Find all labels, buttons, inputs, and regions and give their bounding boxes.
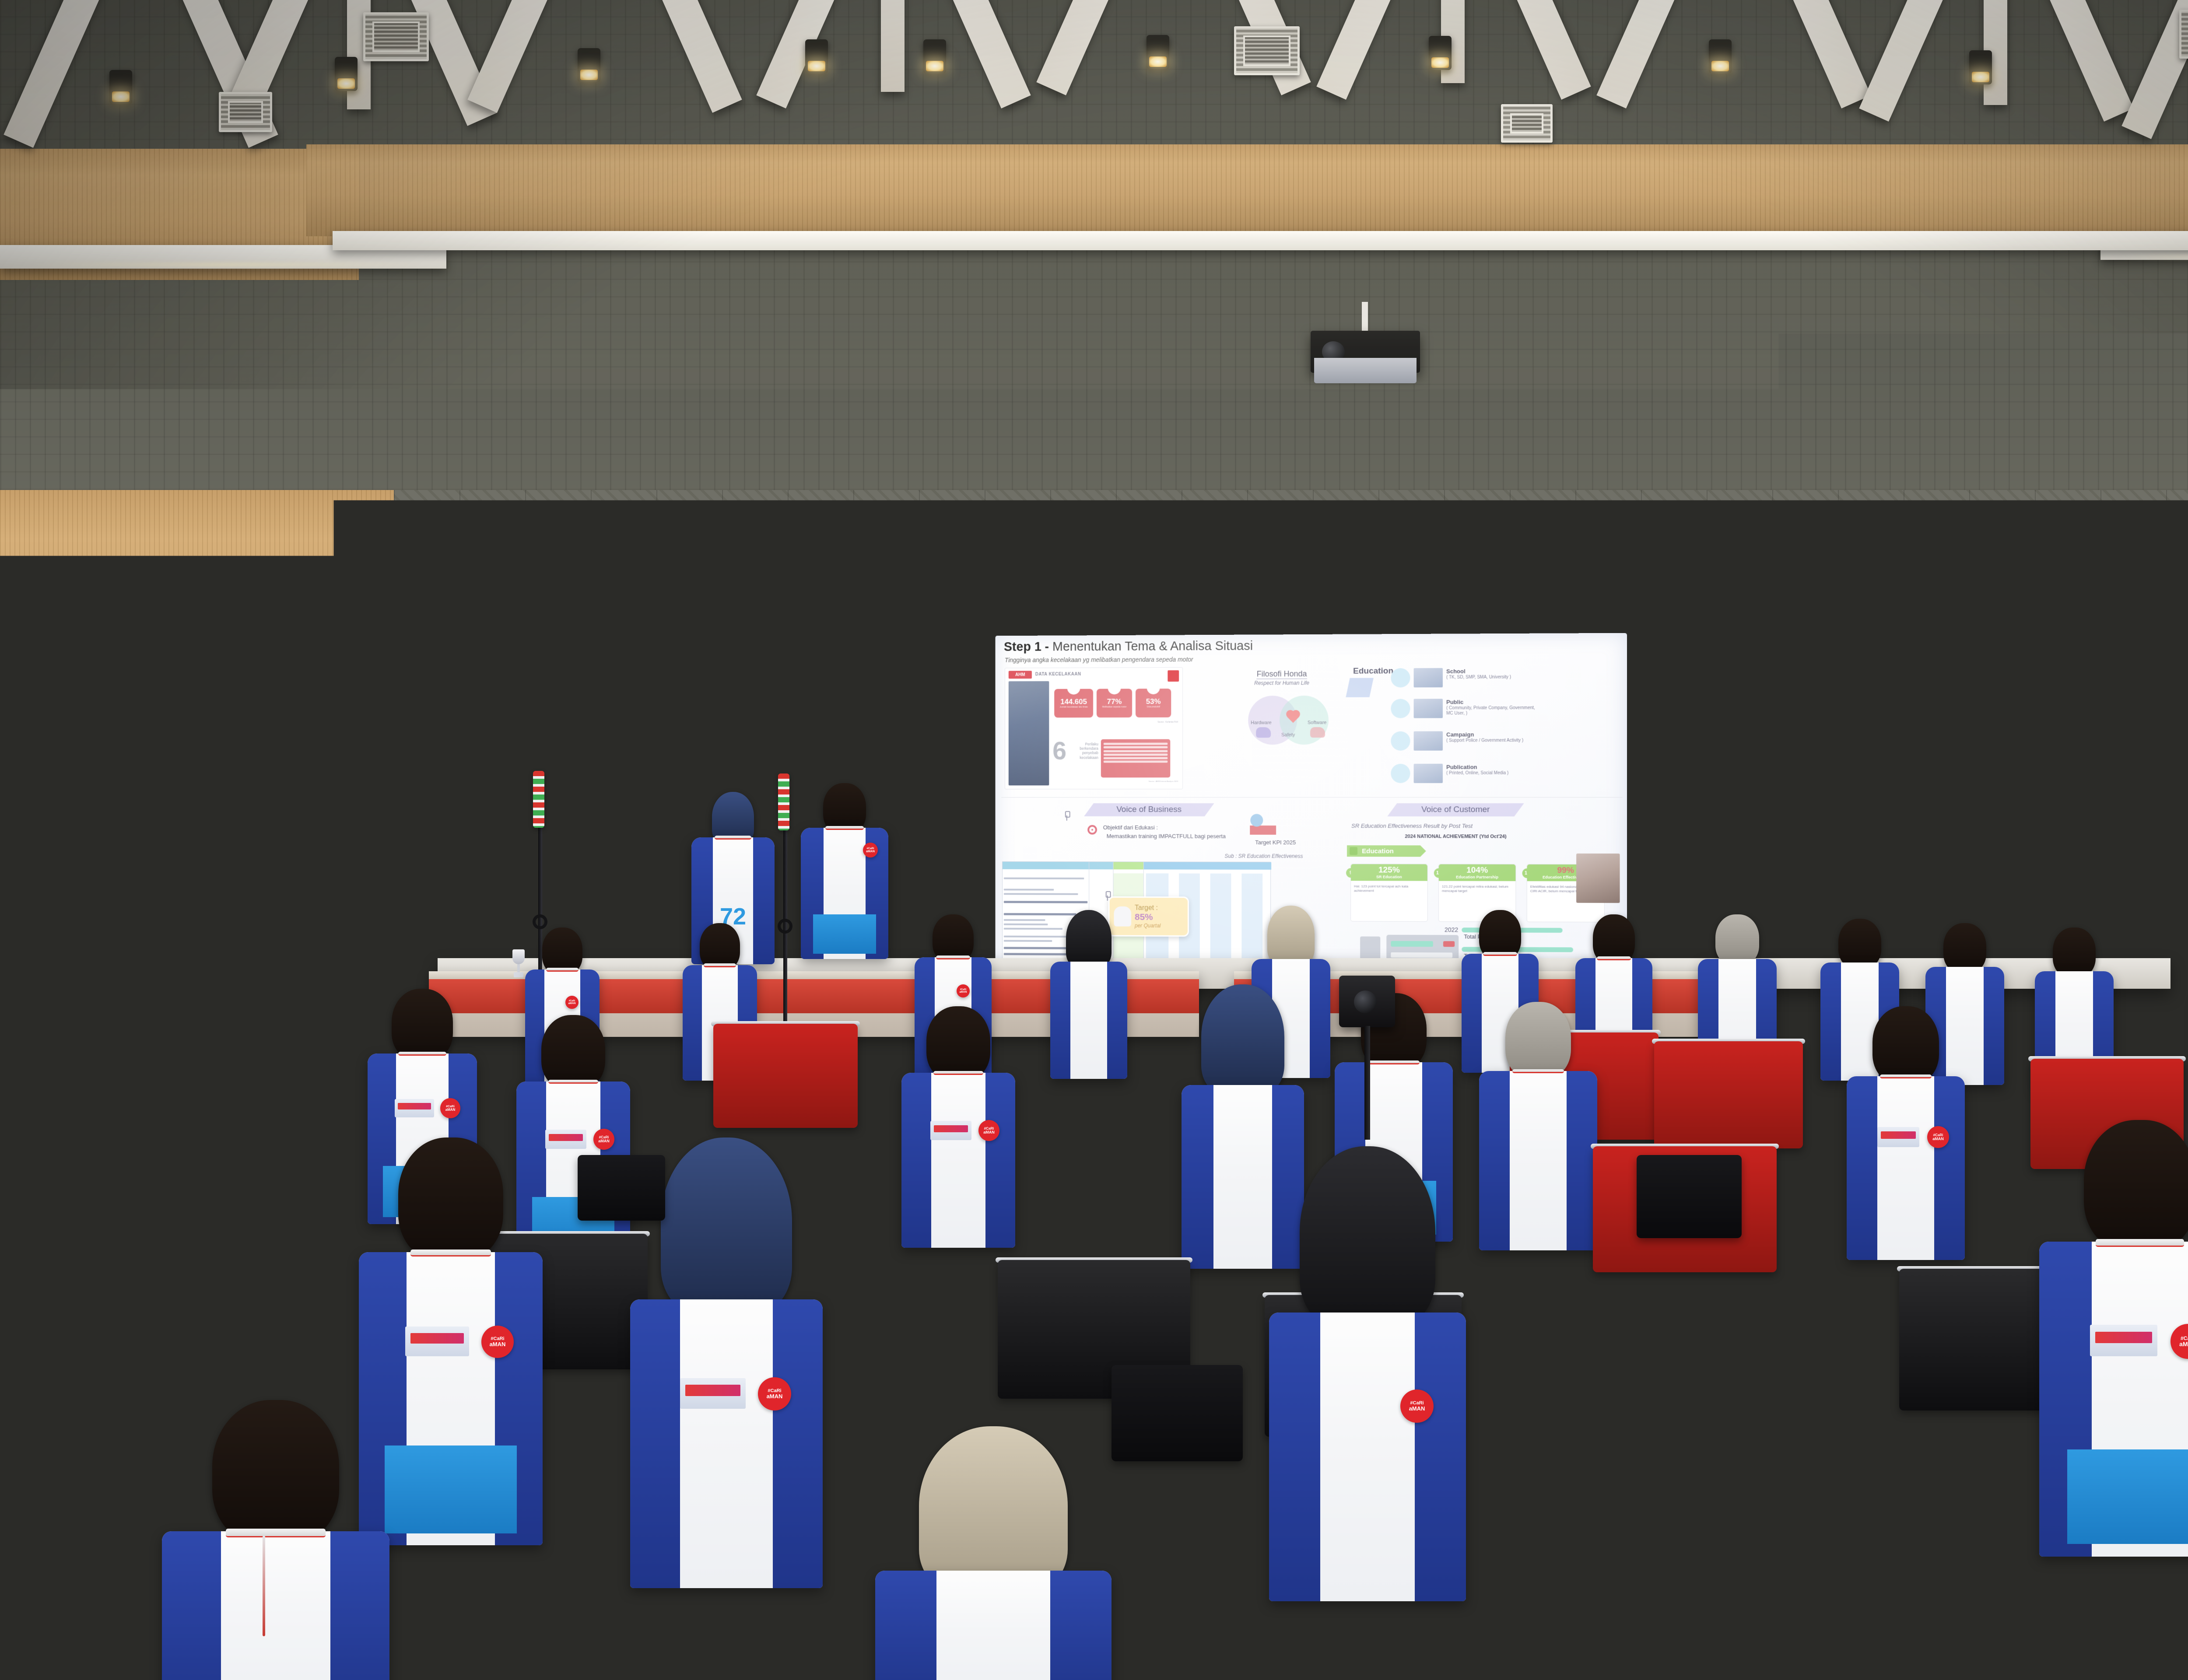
attendee-torso: #CaRiaMAN — [2039, 1242, 2188, 1557]
honda-mini-logo — [1168, 670, 1179, 682]
jacket-shoulder — [1934, 1076, 1965, 1260]
trophy-base — [514, 972, 523, 977]
attendee-torso: #CaRiaMAN — [630, 1299, 823, 1588]
audience-member — [1050, 910, 1127, 1076]
attendee-head — [2084, 1120, 2188, 1251]
banner-cari-aman-badge: #CaRi aMAN — [683, 751, 700, 768]
attendee-head — [1872, 1006, 1939, 1084]
jacket-collar — [546, 968, 579, 972]
mic-clip-icon — [533, 914, 547, 929]
ceiling-spotlight — [923, 39, 946, 73]
ceiling-projector — [1311, 331, 1420, 373]
ceiling-beam-group-7 — [1619, 0, 1847, 118]
right-banner-artwork: HONDA #CaRi_aMAN saat naik motor — [1757, 627, 2158, 943]
table-row — [1004, 940, 1052, 941]
audience-member: #CaRiaMAN — [901, 1006, 1015, 1251]
chair-back — [1654, 1041, 1803, 1148]
sponsor-logo-row: KYT NUSANTARA FDR — [490, 906, 636, 927]
stat-card: 53% Usia produktif — [1136, 689, 1171, 717]
venn-label-hardware: Hardware — [1251, 720, 1272, 725]
kpi-name: Education Partnership — [1456, 875, 1498, 879]
podium-top — [263, 862, 349, 869]
jacket-collar — [825, 826, 864, 830]
traffic-pole-light — [778, 773, 789, 830]
attendee-head — [1267, 906, 1315, 965]
safety-riding-wordmark — [549, 1134, 583, 1141]
kpi-notes: Hal. 123 point tot tercapai ach kata ach… — [1354, 884, 1424, 893]
jacket-shoulder — [1847, 1076, 1877, 1260]
stat-caption: Usia produktif — [1138, 706, 1168, 709]
kpi-notes: 121.22 point tercapai mitra edukasi; bel… — [1442, 885, 1512, 893]
ac-vent-icon — [2179, 10, 2188, 59]
safety-riding-wordmark — [132, 1288, 183, 1299]
trophy-icon — [512, 949, 525, 978]
jacket-collar — [548, 1080, 598, 1084]
bar-year: 2022 — [1445, 926, 1458, 933]
attendee-head — [104, 761, 181, 854]
behaviour-count: 6 — [1052, 740, 1066, 762]
accident-data-panel: AHM DATA KECELAKAAN 144.605 Jumlah kecel… — [1005, 667, 1183, 789]
sponsor-label: Disponsori oleh: — [490, 880, 559, 892]
safety-riding-logo — [2090, 1325, 2157, 1356]
education-chip-label: Education — [1362, 847, 1394, 855]
jacket-blue-stripe — [269, 1138, 344, 1188]
education-item-campaign: Campaign ( Support Police / Government A… — [1391, 731, 1536, 751]
education-thumb — [1414, 731, 1443, 750]
jacket-shoulder — [1182, 1085, 1213, 1269]
audience-member-foreground — [875, 1426, 1112, 1680]
target-title: Target : — [1135, 904, 1161, 912]
cari-aman-badge: #CaRiaMAN — [1400, 1389, 1434, 1423]
jacket-shoulder — [901, 1073, 931, 1248]
venn-label-safety: Safety — [1281, 732, 1295, 738]
kpi-head: 125% SR Education — [1351, 864, 1427, 881]
table-header-green — [1113, 862, 1143, 869]
cari-aman-badge: #CaRiaMAN — [481, 1326, 514, 1358]
attendee-torso — [1479, 1071, 1597, 1250]
honda-wall-wordmark: HONDA — [463, 772, 529, 790]
safety-riding-wordmark — [410, 1333, 464, 1344]
attendee-torso — [875, 1571, 1112, 1680]
jacket-collar — [936, 955, 970, 959]
cari-aman-badge: #CaRiaMAN — [440, 1098, 460, 1118]
kpi-percent: 104% — [1466, 866, 1488, 875]
kpi-card-sr-education: 9 125% SR Education Hal. 123 point tot t… — [1350, 864, 1428, 922]
attendee-torso — [162, 1531, 389, 1680]
education-item-detail: ( Printed, Online, Social Media ) — [1446, 771, 1508, 776]
badge-text: aMAN — [568, 1002, 575, 1005]
safety-riding-logo — [545, 1130, 586, 1149]
venn-scooter-left-icon — [1256, 727, 1271, 738]
sponsor-logo-kyt: KYT — [490, 907, 526, 927]
camera-lens-icon — [1354, 990, 1377, 1013]
voice-of-customer-header: Voice of Customer — [1387, 803, 1524, 816]
banner-rider2-helmet — [2011, 731, 2051, 768]
stat-value: 77% — [1107, 697, 1122, 706]
event-hall-photo: HONDA AHM PT Astra Honda Motor #CaRi aMA… — [0, 0, 2188, 1680]
helmet — [1479, 927, 1527, 965]
left-banner-artwork: HONDA AHM PT Astra Honda Motor #CaRi aMA… — [452, 627, 854, 943]
behaviour-item — [1104, 743, 1168, 745]
kpi-percent: 99% — [1557, 866, 1574, 875]
attendee-head — [2053, 927, 2096, 977]
jacket-collar — [410, 1249, 491, 1256]
sponsor-logo-fdr: FDR — [586, 906, 637, 927]
badge-text: aMAN — [598, 1139, 610, 1143]
attendee-head — [1300, 1146, 1435, 1326]
attendee-head — [212, 1400, 339, 1544]
venn-scooter-right-icon — [1310, 727, 1325, 738]
attendee-head — [541, 1015, 605, 1089]
cari-aman-badge: #CaRiaMAN — [978, 1120, 999, 1141]
badge-text: aMAN — [165, 904, 178, 909]
safety-riding-logo — [930, 1121, 971, 1140]
presenter-male: #CaRi aMAN — [801, 783, 888, 967]
ceiling-light-strip-left — [26, 262, 420, 267]
cari-aman-hashtag-badge: #CaRi_aMAN saat naik motor — [2060, 641, 2139, 668]
quiz-progress-bar — [1391, 941, 1433, 947]
attendee-head — [1943, 923, 1986, 973]
slide-title-text: Menentukan Tema & Analisa Situasi — [1052, 639, 1253, 654]
education-heading: Education — [1353, 666, 1393, 676]
attendee-torso: #CaRiaMAN — [1269, 1312, 1466, 1601]
jacket-blue-stripe — [2067, 1449, 2188, 1544]
objective-text: Memastikan training IMPACTFULL bagi pese… — [1107, 833, 1226, 840]
stat-caption: Jumlah kecelakaan lalu lintas — [1057, 707, 1090, 709]
kpi-name: SR Education — [1376, 875, 1402, 879]
venn-label-software: Software — [1308, 720, 1326, 725]
safety-indonesia-logo — [496, 648, 530, 687]
jacket-blue-stripe — [813, 914, 876, 954]
jacket-collar — [1512, 1069, 1564, 1073]
education-item-name: School — [1446, 668, 1511, 675]
badge-text: aMAN — [767, 1393, 783, 1399]
badge-text: aMAN — [1932, 1137, 1944, 1141]
voc-subtitle: SR Education Effectiveness Result by Pos… — [1351, 822, 1473, 829]
school-icon — [1391, 668, 1410, 687]
jacket-collar — [2096, 1239, 2184, 1247]
cari-aman-badge: #CaRiaMAN — [758, 1377, 791, 1410]
ceiling-beam-group-6 — [1339, 0, 1567, 109]
people-icon — [1147, 681, 1160, 694]
jacket-collar — [704, 963, 736, 967]
jacket-collar — [398, 1052, 446, 1056]
attendee-head — [1201, 984, 1284, 1094]
monitor-icon — [1391, 764, 1410, 783]
ceiling-spotlight — [1709, 39, 1732, 73]
lanyard — [263, 1536, 265, 1636]
attendee-head-cap — [1715, 914, 1759, 965]
badge-text: aMAN — [207, 1296, 224, 1302]
backpack — [1637, 1155, 1742, 1238]
jacket-shoulder — [683, 965, 702, 1081]
building-icon — [1391, 699, 1410, 718]
honda-logo: HONDA — [1788, 637, 1855, 730]
jacket-collar — [226, 1529, 326, 1537]
jacket-collar — [933, 1071, 983, 1075]
safety-riding-wordmark — [1881, 1131, 1916, 1139]
badge-text: aMAN — [2179, 1341, 2188, 1347]
jacket-shoulder — [1269, 1312, 1320, 1601]
table-row — [1004, 919, 1045, 921]
safety-riding-wordmark — [934, 1125, 968, 1132]
stat-card: 144.605 Jumlah kecelakaan lalu lintas — [1054, 689, 1093, 717]
attendee-head — [926, 1006, 990, 1081]
ac-vent-icon — [1501, 104, 1553, 143]
jacket-shoulder — [1984, 967, 2004, 1085]
ceiling-beam — [881, 0, 905, 92]
table-row — [1004, 878, 1084, 879]
slide-subtitle: Tingginya angka kecelakaan yg melibatkan… — [1005, 656, 1193, 664]
ceiling-light-strip-right — [2118, 255, 2188, 259]
kpi-head: 104% Education Partnership — [1439, 864, 1515, 881]
education-person-icon — [1346, 678, 1374, 697]
jacket-shoulder — [162, 1531, 221, 1680]
jacket-shoulder — [330, 1531, 389, 1680]
ahm-logo: AHM PT Astra Honda Motor — [713, 638, 779, 730]
attendee-torso: #CaRiaMAN — [901, 1073, 1015, 1248]
ceiling-beam-group-3 — [490, 0, 718, 122]
safety-riding-logo — [1877, 1127, 1919, 1147]
stat-caption: Melibatkan sepeda motor — [1099, 706, 1129, 709]
attendee-head — [1838, 919, 1881, 969]
jacket-shoulder — [1050, 962, 1070, 1079]
heart-icon — [1285, 710, 1301, 725]
jacket-shoulder — [1462, 954, 1482, 1073]
accident-source-note: Source : Korlantas Polri — [1157, 721, 1178, 723]
ahm-logo-sub: PT Astra Honda Motor — [723, 692, 769, 697]
safety-riding-wordmark — [282, 1075, 314, 1081]
slide-title-line: Step 1 - Menentukan Tema & Analisa Situa… — [1004, 639, 1253, 654]
badge-text: aMAN — [490, 1341, 506, 1347]
jacket-collar — [715, 836, 751, 840]
quiz-accent — [1443, 941, 1455, 947]
ceiling-spotlight — [805, 39, 828, 73]
philosophy-subtitle: Respect for Human Life — [1236, 680, 1328, 686]
audience-member — [1479, 1002, 1597, 1256]
pin-icon — [1104, 891, 1111, 901]
ac-vent-icon — [1234, 26, 1300, 75]
megaphone-icon — [1350, 847, 1357, 855]
safety-riding-logo — [127, 1282, 188, 1311]
backpack — [1112, 1365, 1243, 1461]
ceiling-beam-group-2 — [245, 0, 473, 136]
audience-member: #CaRiaMAN — [254, 967, 359, 1194]
ceiling-beam-group-1 — [26, 0, 254, 157]
jacket-shoulder — [1050, 1571, 1112, 1680]
kpi-caption: Target KPI 2025 — [1255, 839, 1296, 846]
kpi-chart-icon — [1250, 813, 1276, 835]
kpi-percent: 125% — [1378, 866, 1400, 874]
behaviour-item — [1104, 757, 1168, 759]
education-item-name: Publication — [1446, 764, 1508, 770]
ceiling-beam-group-8 — [1882, 0, 2109, 131]
audience-member-hijab-foreground: #CaRiaMAN — [1269, 1146, 1466, 1588]
jacket-shoulder — [1820, 962, 1841, 1081]
education-thumb — [1414, 668, 1443, 687]
ceiling-spotlight — [335, 57, 358, 91]
stat-card: 77% Melibatkan sepeda motor — [1097, 689, 1132, 717]
wall-wood-left — [0, 490, 394, 735]
education-item-name: Campaign — [1446, 731, 1523, 738]
attendee-head — [919, 1426, 1068, 1592]
motorcycle-icon — [1108, 681, 1121, 694]
accident-panel-header: DATA KECELAKAAN — [1035, 672, 1081, 677]
badge-text: aMAN — [959, 991, 967, 994]
safety-riding-wordmark — [398, 1103, 431, 1109]
voc-achievement-label: 2024 NATIONAL ACHIEVEMENT (Ytd Oct'24) — [1405, 834, 1506, 839]
safety-riding-logo — [405, 1326, 469, 1356]
hashtag-sub: saat naik motor — [2086, 659, 2113, 664]
badge-text: aMAN — [866, 850, 875, 853]
header-tick — [1372, 803, 1384, 816]
education-item-detail: ( Support Police / Government Activity ) — [1446, 738, 1523, 743]
badge-text: aMAN — [983, 1130, 995, 1134]
behaviour-item — [1104, 746, 1168, 749]
slide-divider — [1001, 797, 1623, 798]
jacket-shoulder — [630, 1299, 680, 1588]
ac-vent-icon — [363, 12, 429, 61]
jacket-shoulder — [773, 1299, 823, 1588]
cari-aman-badge: #CaRiaMAN — [565, 996, 579, 1009]
ahm-mini-logo: AHM — [1009, 671, 1032, 679]
header-tick — [1069, 803, 1081, 816]
mic-clip-icon — [778, 919, 792, 934]
philosophy-venn: Hardware Software Safety — [1248, 696, 1331, 748]
education-thumb — [1414, 764, 1443, 783]
philosophy-block: Filosofi Honda Respect for Human Life — [1236, 669, 1328, 686]
stat-value: 144.605 — [1060, 698, 1087, 707]
education-activity-photo — [1576, 854, 1620, 903]
attendee-torso: #CaRiaMAN — [1847, 1076, 1965, 1260]
sub-caption: Sub : SR Education Effectiveness — [1225, 853, 1303, 859]
jacket-collar — [1880, 1074, 1932, 1078]
attendee-torso: #CaRiaMAN — [254, 1028, 359, 1194]
target-period: per Quartal — [1135, 923, 1161, 929]
honda-wordmark: HONDA — [1803, 701, 1839, 711]
attendee-head — [277, 967, 335, 1035]
behaviour-source-note: Source : AHM Internal Analysis 2024 — [1149, 780, 1178, 782]
table-header-blue — [1143, 862, 1271, 869]
jacket-collar — [283, 1026, 330, 1030]
behaviour-item — [1104, 750, 1168, 752]
jacket-collar — [1597, 956, 1630, 960]
education-thumb — [1414, 699, 1443, 718]
education-item-detail: ( TK, SD, SMP, SMA, University ) — [1446, 675, 1511, 680]
table-row — [1004, 889, 1054, 890]
voice-of-customer-label: Voice of Customer — [1421, 805, 1490, 815]
attendee-head — [398, 1137, 503, 1261]
jacket-shoulder — [875, 1571, 936, 1680]
banner-man-cap — [1917, 692, 1971, 714]
cari-aman-badge: #CaRiaMAN — [2170, 1324, 2188, 1359]
attendee-head — [661, 1137, 792, 1312]
tripod-pole — [1364, 1026, 1370, 1140]
ceiling-spotlight — [109, 70, 132, 104]
jacket-collar — [1368, 1060, 1420, 1064]
jacket-shoulder — [1415, 1312, 1466, 1601]
banner-instructor-cap — [657, 674, 706, 694]
table-row — [1004, 893, 1078, 895]
slide-step-label: Step 1 - — [1004, 640, 1049, 654]
objective-target-icon — [1087, 825, 1097, 835]
education-section-chip: Education — [1347, 845, 1426, 857]
safety-riding-wordmark — [2095, 1332, 2152, 1343]
banner-rider-helmet — [597, 715, 632, 746]
accident-photo — [1009, 681, 1049, 785]
behaviour-label: Perilaku berkendara penyebab kecelakaan — [1068, 742, 1098, 760]
audience-member-foreground: #CaRiaMAN — [2039, 1120, 2188, 1566]
podium — [267, 866, 346, 954]
safety-riding-logo — [102, 893, 152, 916]
jacket-shoulder — [985, 1073, 1015, 1248]
cari-aman-badge: #CaRi aMAN — [159, 892, 184, 917]
trophy-cup — [512, 949, 525, 964]
table-header-row — [1003, 862, 1270, 870]
ceiling-spotlight — [1147, 35, 1169, 69]
ceiling-spotlight — [1969, 50, 1992, 84]
cari-aman-badge: #CaRiaMAN — [322, 1070, 341, 1089]
ceiling-beam-group-4 — [779, 0, 1006, 118]
backpack — [1729, 1479, 1873, 1592]
pin-icon — [1063, 811, 1070, 821]
target-value: 85% — [1135, 912, 1161, 923]
audience-member-foreground — [162, 1400, 389, 1680]
cari-aman-badge: #CaRiaMAN — [957, 984, 970, 997]
education-item-public: Public ( Community, Private Company, Gov… — [1391, 699, 1536, 718]
ac-vent-icon — [219, 92, 272, 132]
philosophy-title: Filosofi Honda — [1257, 669, 1307, 679]
badge-text: aMAN — [687, 759, 697, 763]
traffic-pole-light — [533, 771, 544, 828]
hashtag-main: #CaRi_aMAN — [2063, 646, 2136, 659]
behaviour-item — [1104, 760, 1168, 763]
safety-riding-wordmark — [685, 1385, 740, 1396]
megaphone-icon — [1391, 731, 1410, 751]
ceiling-soffit-center — [333, 231, 2188, 250]
honda-wing-icon — [1797, 656, 1846, 699]
badge-text: aMAN — [445, 1108, 456, 1112]
presenter-torso: #CaRi aMAN — [801, 828, 888, 959]
table-row — [1004, 901, 1087, 903]
safety-riding-logo — [279, 1071, 317, 1088]
jacket-blue-stripe — [385, 1445, 517, 1533]
cari-aman-badge: #CaRiaMAN — [593, 1129, 614, 1150]
audience-member: #CaRiaMAN — [1847, 1006, 1965, 1269]
ceiling-spotlight — [1429, 36, 1452, 70]
education-item-school: School ( TK, SD, SMP, SMA, University ) — [1391, 668, 1536, 687]
safety-riding-logo — [395, 1099, 434, 1117]
stat-value: 53% — [1146, 697, 1161, 706]
badge-text: aMAN — [1409, 1406, 1425, 1411]
safety-riding-logo — [680, 1378, 746, 1409]
table-row — [1004, 924, 1048, 925]
cari-aman-badge: #CaRiaMAN — [200, 1281, 231, 1312]
backpack — [578, 1155, 665, 1221]
rainbow-icon — [496, 651, 530, 672]
jacket-shoulder — [1107, 962, 1127, 1079]
badge-text: aMAN — [327, 1080, 337, 1083]
chair-back — [713, 1024, 858, 1128]
right-stage-banner: HONDA #CaRi_aMAN saat naik motor — [1742, 612, 2173, 958]
ahm-logo-main: AHM — [723, 671, 768, 690]
jacket-shoulder — [1479, 1071, 1510, 1250]
jacket-shoulder — [1310, 959, 1330, 1078]
cari-aman-badge: #CaRiaMAN — [1927, 1126, 1949, 1148]
education-item-name: Public — [1446, 699, 1536, 706]
ceiling-spotlight — [578, 48, 600, 82]
education-item-detail: ( Community, Private Company, Government… — [1446, 706, 1536, 717]
